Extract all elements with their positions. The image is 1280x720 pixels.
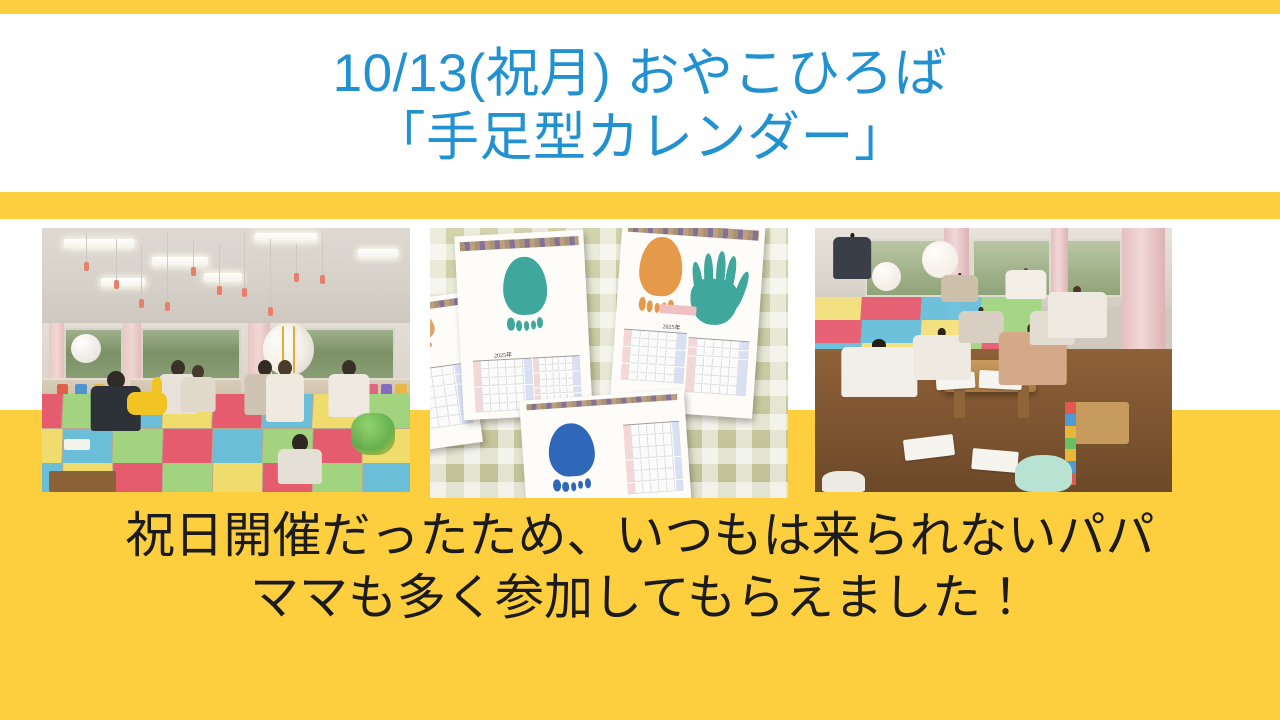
slide-root: 10/13(祝月) おやこひろば 「手足型カレンダー」 2025年2025年 祝… xyxy=(0,0,1280,720)
title-line-2: 「手足型カレンダー」 xyxy=(373,106,908,170)
calendar-sheet: 2025年 xyxy=(454,230,592,420)
craft-sheet xyxy=(971,448,1019,473)
white-stool xyxy=(822,471,865,492)
footprint xyxy=(501,256,549,339)
handprint xyxy=(681,247,749,329)
title-line-1: 10/13(祝月) おやこひろば xyxy=(333,42,948,106)
workshop-photo xyxy=(815,228,1172,492)
calendar-year: 2025年 xyxy=(662,321,681,331)
top-accent-band xyxy=(0,0,1280,14)
person xyxy=(178,365,218,418)
person xyxy=(840,339,919,408)
person xyxy=(940,273,979,310)
lantern xyxy=(872,262,901,291)
caption-block: 祝日開催だったため、いつもは来られないパパ ママも多く参加してもらえました！ xyxy=(0,505,1280,629)
person xyxy=(1047,286,1108,349)
calendar-grid xyxy=(623,421,684,495)
person xyxy=(263,360,307,434)
footprint xyxy=(547,422,598,498)
calendar-grid xyxy=(620,328,686,384)
footprint xyxy=(430,312,438,356)
block-box xyxy=(1065,402,1129,444)
photo-row: 2025年2025年 xyxy=(0,228,1280,500)
playroom-photo xyxy=(42,228,410,492)
person xyxy=(274,434,326,487)
calendar-grid xyxy=(685,337,749,396)
middle-accent-band xyxy=(0,192,1280,219)
calendar-sheet xyxy=(519,390,692,498)
caption-line-1: 祝日開催だったため、いつもは来られないパパ xyxy=(125,505,1154,567)
title-block: 10/13(祝月) おやこひろば 「手足型カレンダー」 xyxy=(0,26,1280,186)
person xyxy=(833,233,872,291)
calendar-sheet: 2025年 xyxy=(610,228,766,419)
caption-line-2: ママも多く参加してもらえました！ xyxy=(250,567,1030,629)
handprint-calendar-photo: 2025年2025年 xyxy=(430,228,788,498)
person xyxy=(1004,268,1047,308)
toddler-potty xyxy=(1015,455,1072,492)
calendar-grid xyxy=(533,355,582,402)
